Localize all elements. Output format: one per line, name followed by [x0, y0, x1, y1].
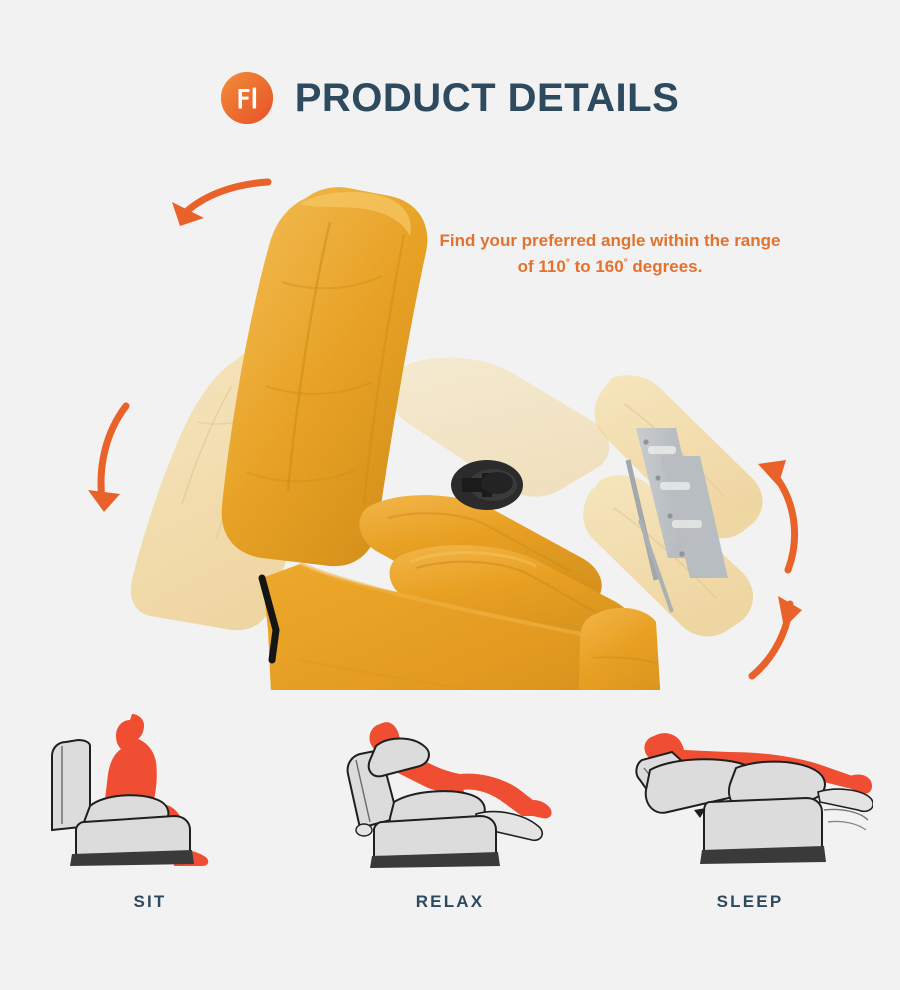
page-header: PRODUCT DETAILS: [0, 58, 900, 138]
backrest-recline-arrow-lower: [88, 406, 126, 512]
footrest-extend-arrow-upper: [758, 460, 795, 570]
sleep-diagram: [628, 698, 873, 878]
relax-diagram: [328, 698, 573, 878]
page-title: PRODUCT DETAILS: [295, 78, 680, 118]
recliner-illustration: [0, 160, 900, 690]
chair-front-footrest-block: [578, 608, 662, 690]
fi-monogram-logo-icon: [221, 72, 273, 124]
position-card-relax: RELAX: [300, 698, 600, 948]
position-card-sit: SIT: [0, 698, 300, 948]
position-label-relax: RELAX: [416, 892, 485, 912]
sit-diagram: [28, 698, 273, 878]
backrest-recline-arrow-upper: [172, 182, 268, 226]
recline-lever-handle[interactable]: [451, 460, 523, 510]
position-label-sit: SIT: [133, 892, 166, 912]
position-diagrams: SIT: [0, 698, 900, 948]
position-label-sleep: SLEEP: [717, 892, 784, 912]
footrest-extend-arrow-lower: [752, 596, 802, 676]
position-card-sleep: SLEEP: [600, 698, 900, 948]
